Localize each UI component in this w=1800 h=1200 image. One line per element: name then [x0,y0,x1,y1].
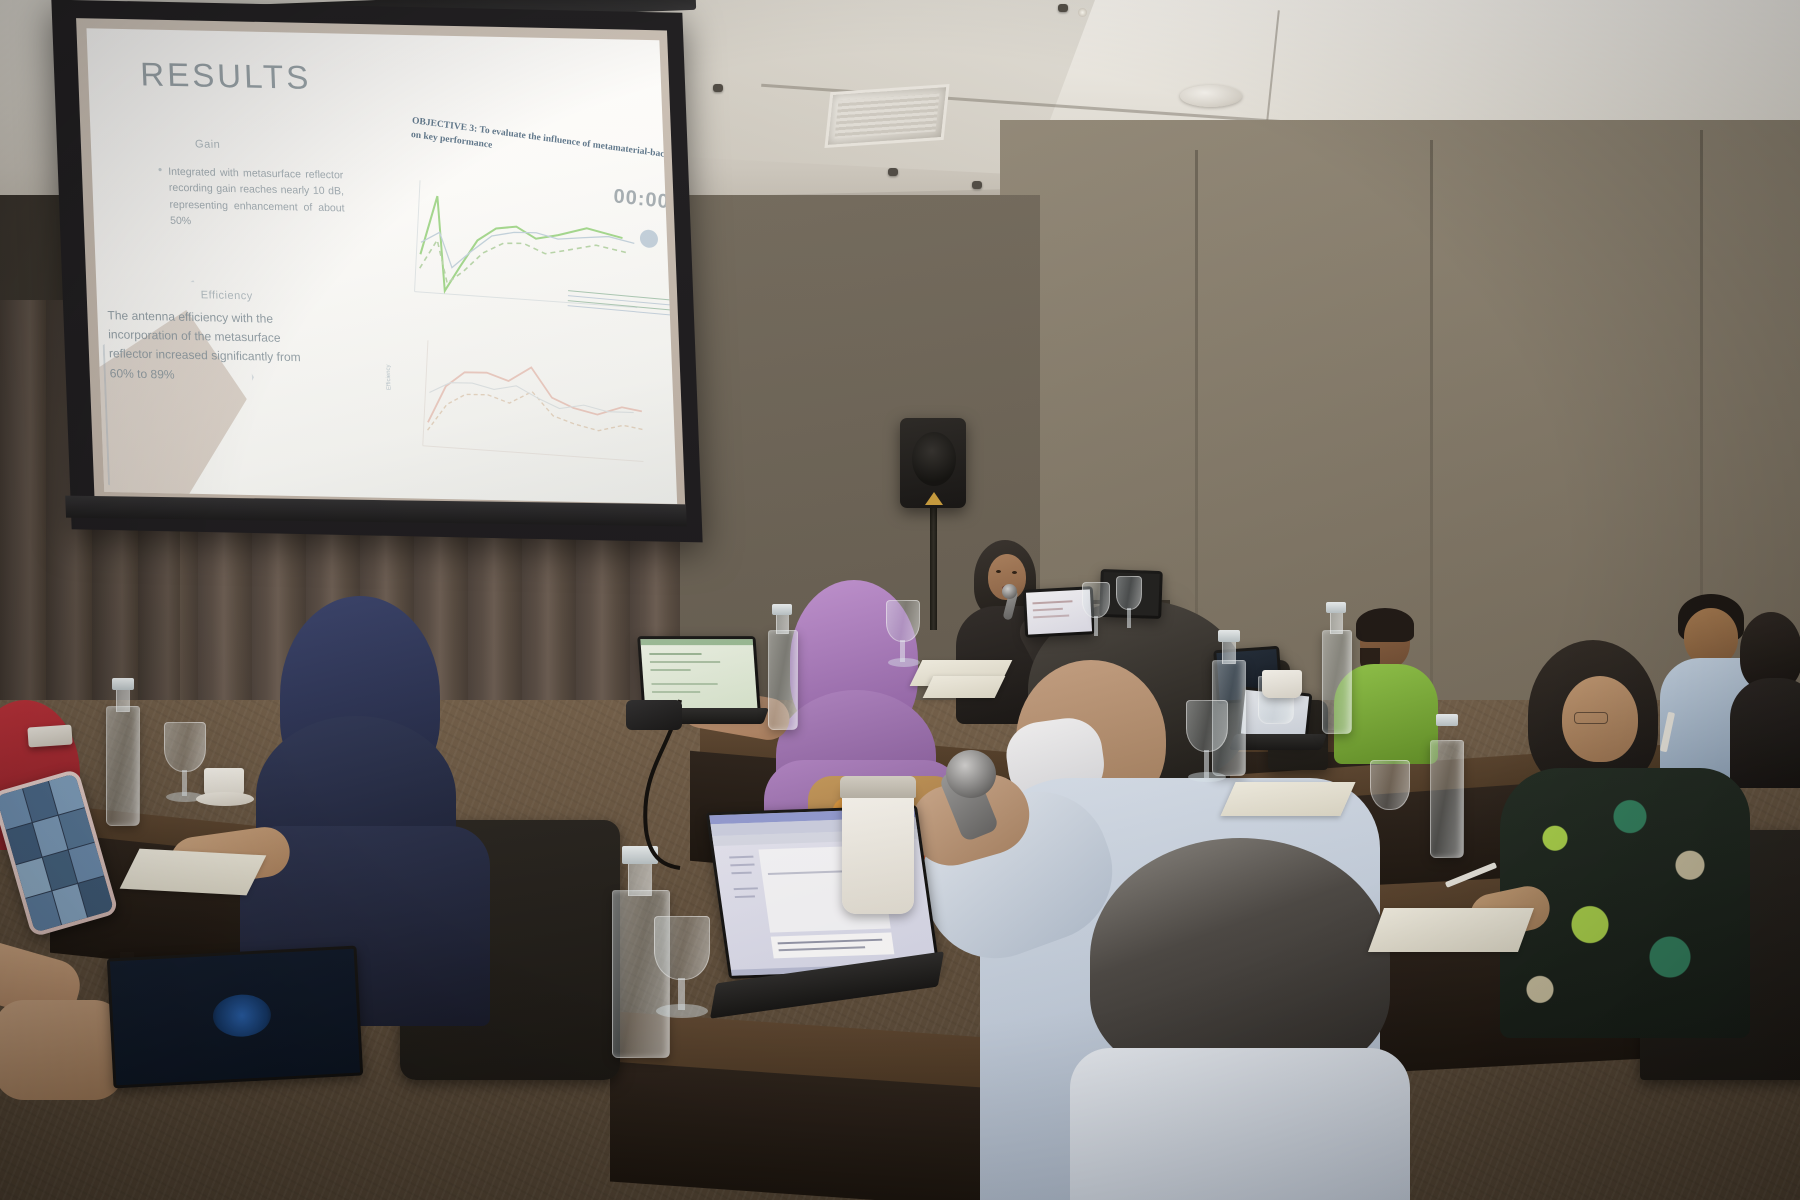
bottle-cap[interactable] [772,604,792,615]
water-bottle[interactable] [106,706,140,826]
insulated-tumbler[interactable] [842,786,914,914]
bottle-neck [1330,612,1343,634]
bullet-icon: • [158,164,165,229]
bottle-cap[interactable] [112,678,134,690]
presenter-eye [1012,571,1017,574]
bottle-cap[interactable] [622,846,658,864]
microphone-head-icon [1002,584,1017,599]
wine-glass[interactable] [886,600,920,642]
wine-glass[interactable] [1370,760,1410,810]
wine-glass[interactable] [1116,576,1142,610]
gain-bullet-text: Integrated with metasurface reflector re… [168,164,346,233]
wine-glass[interactable] [654,916,710,980]
sprinkler-icon [972,181,982,189]
sprinkler-icon [713,84,723,92]
eyeglasses-icon [1574,712,1608,724]
slide-section-efficiency: Efficiency [201,289,349,304]
laptop-bottom-left[interactable] [107,946,363,1089]
air-vent-icon [824,84,949,148]
wine-glass[interactable] [1082,582,1110,618]
screen-surface: RESULTS Gain • Integrated with metasurfa… [86,28,677,504]
gain-chart-legend [567,286,677,336]
coffee-cup[interactable] [1262,670,1302,698]
presenter-eye [996,570,1001,573]
bottle-neck [1222,640,1236,664]
glass-stem [1094,616,1098,636]
slide-objective: OBJECTIVE 3: To evaluate the influence o… [410,114,677,182]
notepaper[interactable] [923,676,1006,698]
glass-foot [656,1004,708,1018]
notepaper[interactable] [1220,782,1355,816]
bottle-neck [776,614,789,634]
microphone-head-icon [946,750,996,798]
conference-room-scene: RESULTS Gain • Integrated with metasurfa… [0,0,1800,1200]
speaker-cone-icon [912,432,956,486]
bottle-neck [628,862,652,896]
notepaper[interactable] [1368,908,1534,952]
wallpaper-orb [212,993,272,1038]
wine-glass[interactable] [164,722,206,772]
glass-foot [1188,772,1226,782]
attendee-grey-hair [1090,838,1410,1200]
glass-foot [888,658,920,667]
shirt [1070,1048,1410,1200]
ceiling-speaker-icon [1180,85,1242,107]
slide-title: RESULTS [140,55,636,103]
water-bottle[interactable] [1430,740,1464,858]
sprinkler-icon [888,168,898,176]
document-paragraph [771,932,895,958]
projection-screen: RESULTS Gain • Integrated with metasurfa… [51,0,702,542]
slide-left-column: Gain • Integrated with metasurface refle… [157,138,349,305]
sprinkler-icon [1058,4,1068,12]
slide-section-gain: Gain [195,138,343,153]
water-bottle[interactable] [1322,630,1352,734]
saucer [196,792,254,806]
bottle-cap[interactable] [1218,630,1240,642]
tumbler-lid[interactable] [840,776,916,798]
bottle-neck [116,688,130,712]
glass-stem [1127,608,1131,628]
bottle-cap[interactable] [1326,602,1346,613]
water-bottle[interactable] [768,630,798,730]
ceiling-recess [1050,0,1800,120]
laptop-display[interactable] [110,949,360,1086]
notepaper[interactable] [120,849,267,896]
forearm [0,1000,124,1100]
attendee-floral-hijab [1500,640,1760,1040]
presentation-remote[interactable] [27,724,72,747]
presentation-slide: RESULTS Gain • Integrated with metasurfa… [86,28,677,504]
slide-bullet-gain: • Integrated with metasurface reflector … [158,164,346,233]
efficiency-text: The antenna efficiency with the incorpor… [107,306,325,387]
efficiency-axis-label: Efficiency [386,364,393,390]
bottle-cap[interactable] [1436,714,1458,726]
downlight-icon [1078,8,1087,17]
device-box [626,700,682,730]
wine-glass[interactable] [1186,700,1228,752]
speaker-brand-triangle-icon [925,492,943,505]
screen-border: RESULTS Gain • Integrated with metasurfa… [76,18,686,516]
efficiency-chart [399,344,654,469]
grey-hair [1090,838,1390,1078]
